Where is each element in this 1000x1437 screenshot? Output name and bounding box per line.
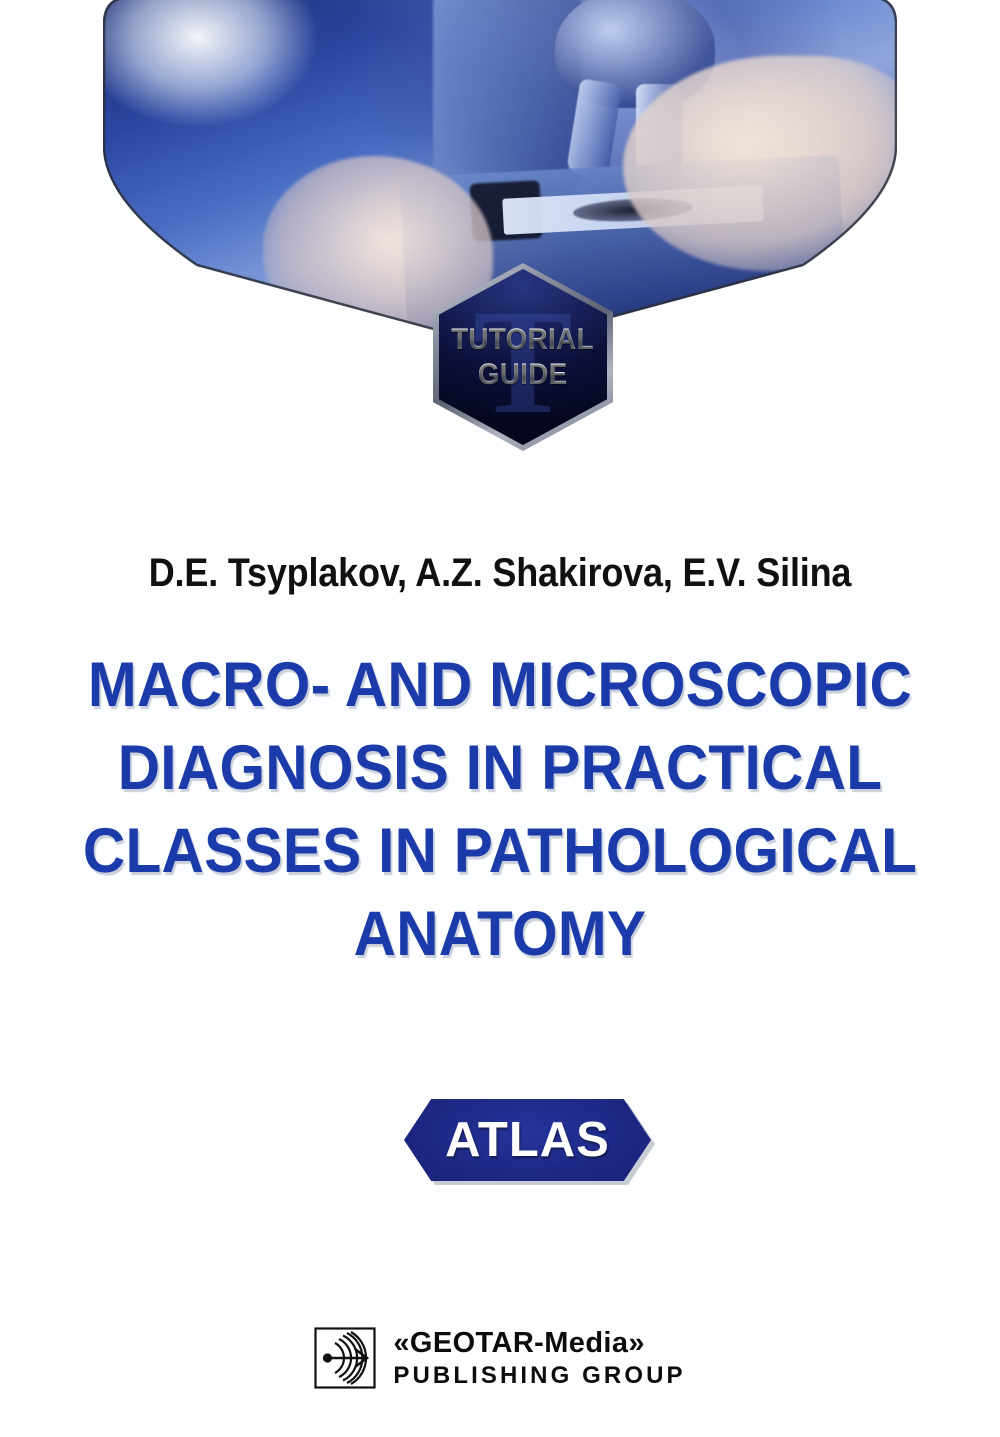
book-title: MACRO- AND MICROSCOPIC DIAGNOSIS IN PRAC…: [40, 644, 960, 976]
publisher-name: «GEOTAR-Media»: [393, 1327, 685, 1360]
authors-line: D.E. Tsyplakov, A.Z. Shakirova, E.V. Sil…: [50, 548, 950, 598]
title-line-3: CLASSES IN PATHOLOGICAL: [72, 810, 928, 893]
title-line-2: DIAGNOSIS IN PRACTICAL: [72, 727, 928, 810]
atlas-label: ATLAS: [404, 1099, 651, 1181]
tutorial-guide-badge: T TUTORIAL GUIDE: [433, 263, 613, 451]
atlas-banner: ATLAS: [404, 1099, 651, 1181]
title-line-4: ANATOMY: [72, 893, 928, 976]
publisher-block: «GEOTAR-Media» PUBLISHING GROUP: [0, 1327, 1000, 1389]
badge-line-guide: GUIDE: [478, 359, 568, 391]
publisher-text: «GEOTAR-Media» PUBLISHING GROUP: [393, 1327, 685, 1389]
title-line-1: MACRO- AND MICROSCOPIC: [72, 644, 928, 727]
publisher-subtitle: PUBLISHING GROUP: [393, 1362, 685, 1389]
geotar-logo-icon: [314, 1327, 376, 1389]
book-cover: T TUTORIAL GUIDE D.E. Tsyplakov, A.Z. Sh…: [0, 0, 1000, 1437]
badge-line-tutorial: TUTORIAL: [452, 324, 595, 356]
